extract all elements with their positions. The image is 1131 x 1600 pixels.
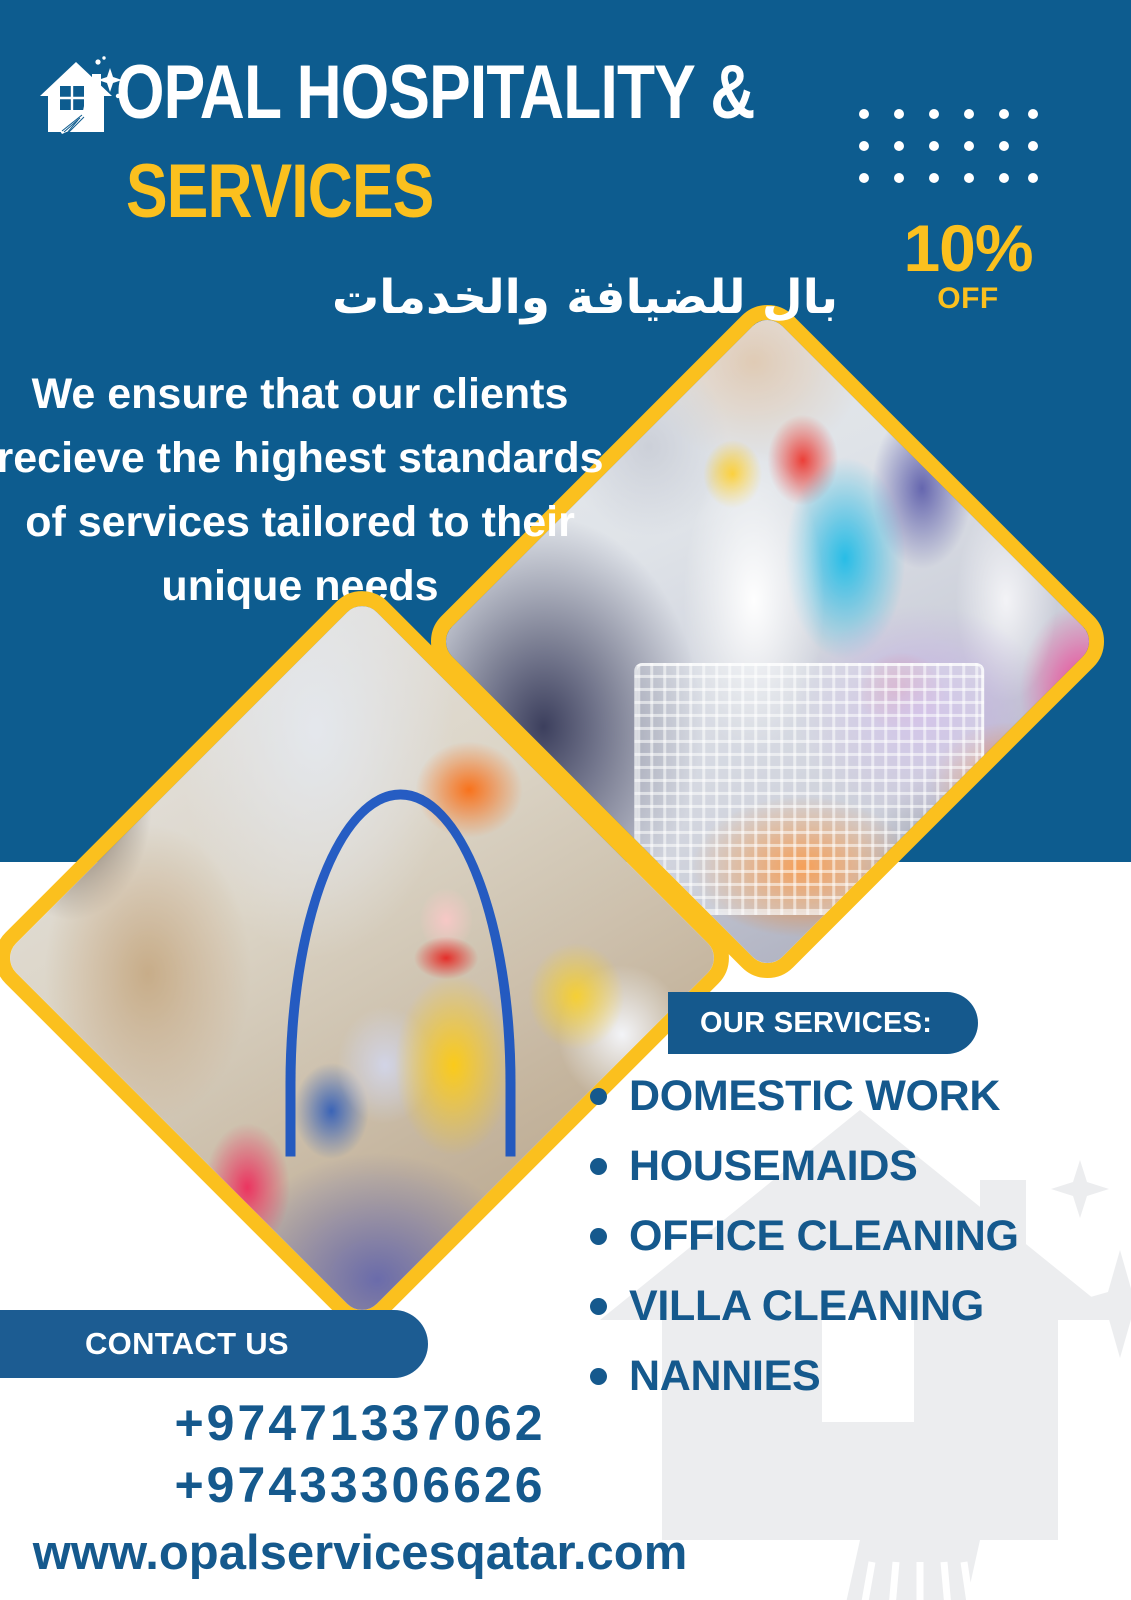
dot-grid-pattern-icon [858,108,1038,188]
list-item: OFFICE CLEANING [590,1212,1110,1261]
contact-us-heading-pill: CONTACT US [0,1310,428,1378]
service-label: OFFICE CLEANING [629,1212,1019,1261]
our-services-heading-pill: OUR SERVICES: [668,992,978,1054]
bullet-icon [590,1158,607,1175]
discount-off-label: OFF [838,281,1098,317]
bullet-icon [590,1228,607,1245]
bullet-icon [590,1368,607,1385]
bullet-icon [590,1298,607,1315]
brand-title-line2: SERVICES [126,152,433,232]
services-list: DOMESTIC WORK HOUSEMAIDS OFFICE CLEANING… [590,1072,1110,1422]
brand-title-arabic: بال للضيافة والخدمات [0,268,838,328]
bullet-icon [590,1088,607,1105]
phone-number-secondary[interactable]: +97433306626 [0,1454,720,1516]
list-item: VILLA CLEANING [590,1282,1110,1331]
website-url[interactable]: www.opalservicesqatar.com [0,1524,720,1582]
flyer-poster: OPAL HOSPITALITY & SERVICES بال للضيافة … [0,0,1131,1600]
brand-title-line1: OPAL HOSPITALITY & [116,53,739,133]
list-item: HOUSEMAIDS [590,1142,1110,1191]
our-services-label: OUR SERVICES: [700,1007,932,1040]
tagline-text: We ensure that our clients recieve the h… [0,362,610,618]
contact-us-label: CONTACT US [85,1326,289,1362]
list-item: DOMESTIC WORK [590,1072,1110,1121]
house-broom-sparkle-icon [38,52,124,142]
service-label: HOUSEMAIDS [629,1142,917,1191]
service-label: VILLA CLEANING [629,1282,984,1331]
phone-number-primary[interactable]: +97471337062 [0,1392,720,1454]
discount-percent: 10% [838,215,1098,281]
service-label: DOMESTIC WORK [629,1072,1000,1121]
contact-details: +97471337062 +97433306626 www.opalservic… [0,1392,720,1582]
discount-badge: 10% OFF [838,215,1098,317]
